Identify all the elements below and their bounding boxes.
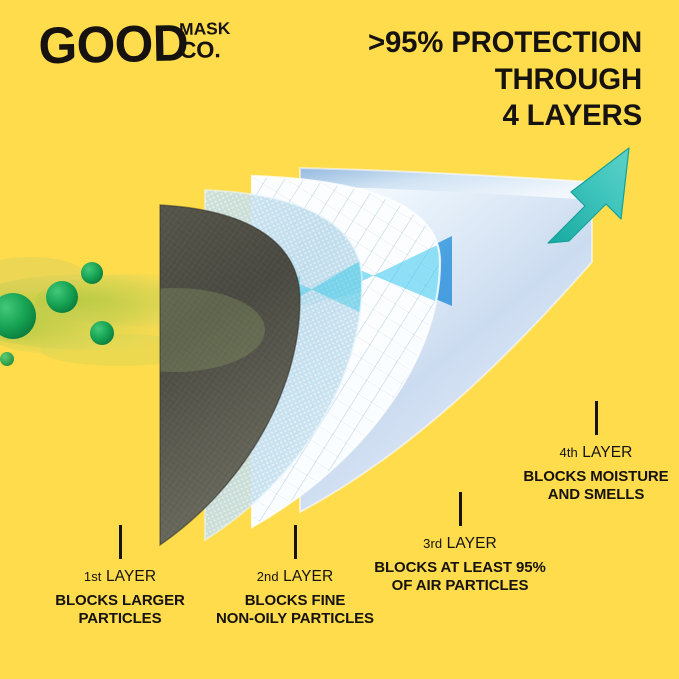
callout-title-4: 4th LAYER — [512, 444, 679, 461]
callout-desc-1: BLOCKS LARGER PARTICLES — [30, 592, 210, 629]
callout-layer-word-3: LAYER — [447, 535, 497, 552]
callout-layer-word-4: LAYER — [582, 444, 632, 461]
callout-tick-1 — [119, 525, 122, 559]
brand-logo: GOOD MASK CO. — [38, 18, 229, 65]
headline-line-1: >95% PROTECTION THROUGH — [368, 26, 642, 96]
callout-desc-1-line-2: PARTICLES — [30, 610, 210, 628]
particle — [46, 281, 78, 313]
callout-layer-4: 4th LAYER BLOCKS MOISTURE AND SMELLS — [512, 401, 679, 505]
callout-tick-4 — [595, 401, 598, 435]
callout-desc-2-line-2: NON-OILY PARTICLES — [202, 610, 388, 628]
callout-desc-3-line-2: OF AIR PARTICLES — [360, 577, 560, 595]
particle — [90, 321, 114, 345]
callout-ordinal-2: 2nd — [257, 569, 279, 584]
brand-logo-mask: MASK — [179, 20, 230, 38]
callout-tick-3 — [459, 492, 462, 526]
callout-layer-word-1: LAYER — [106, 568, 156, 585]
callout-desc-2: BLOCKS FINE NON-OILY PARTICLES — [202, 592, 388, 629]
infographic-poster: GOOD MASK CO. >95% PROTECTION THROUGH 4 … — [0, 0, 679, 679]
callout-ordinal-4: 4th — [560, 445, 578, 460]
particle — [0, 352, 14, 366]
callout-layer-word-2: LAYER — [283, 568, 333, 585]
brand-logo-stack: MASK CO. — [179, 18, 230, 62]
headline: >95% PROTECTION THROUGH 4 LAYERS — [230, 25, 642, 135]
headline-line-2: 4 LAYERS — [230, 98, 642, 135]
callout-desc-3-line-1: BLOCKS AT LEAST 95% — [360, 559, 560, 577]
particle — [81, 262, 103, 284]
brand-logo-good: GOOD — [38, 19, 189, 70]
callout-desc-1-line-1: BLOCKS LARGER — [30, 592, 210, 610]
callout-desc-4-line-1: BLOCKS MOISTURE — [512, 468, 679, 486]
callout-desc-3: BLOCKS AT LEAST 95% OF AIR PARTICLES — [360, 559, 560, 596]
callout-title-1: 1st LAYER — [30, 568, 210, 585]
callout-layer-1: 1st LAYER BLOCKS LARGER PARTICLES — [30, 525, 210, 629]
callout-ordinal-1: 1st — [84, 569, 102, 584]
callout-ordinal-3: 3rd — [423, 536, 442, 551]
callout-title-3: 3rd LAYER — [360, 535, 560, 552]
callout-tick-2 — [294, 525, 297, 559]
brand-logo-co: CO. — [179, 38, 231, 62]
callout-desc-4-line-2: AND SMELLS — [512, 486, 679, 504]
callout-layer-3: 3rd LAYER BLOCKS AT LEAST 95% OF AIR PAR… — [360, 492, 560, 596]
callout-desc-4: BLOCKS MOISTURE AND SMELLS — [512, 468, 679, 505]
